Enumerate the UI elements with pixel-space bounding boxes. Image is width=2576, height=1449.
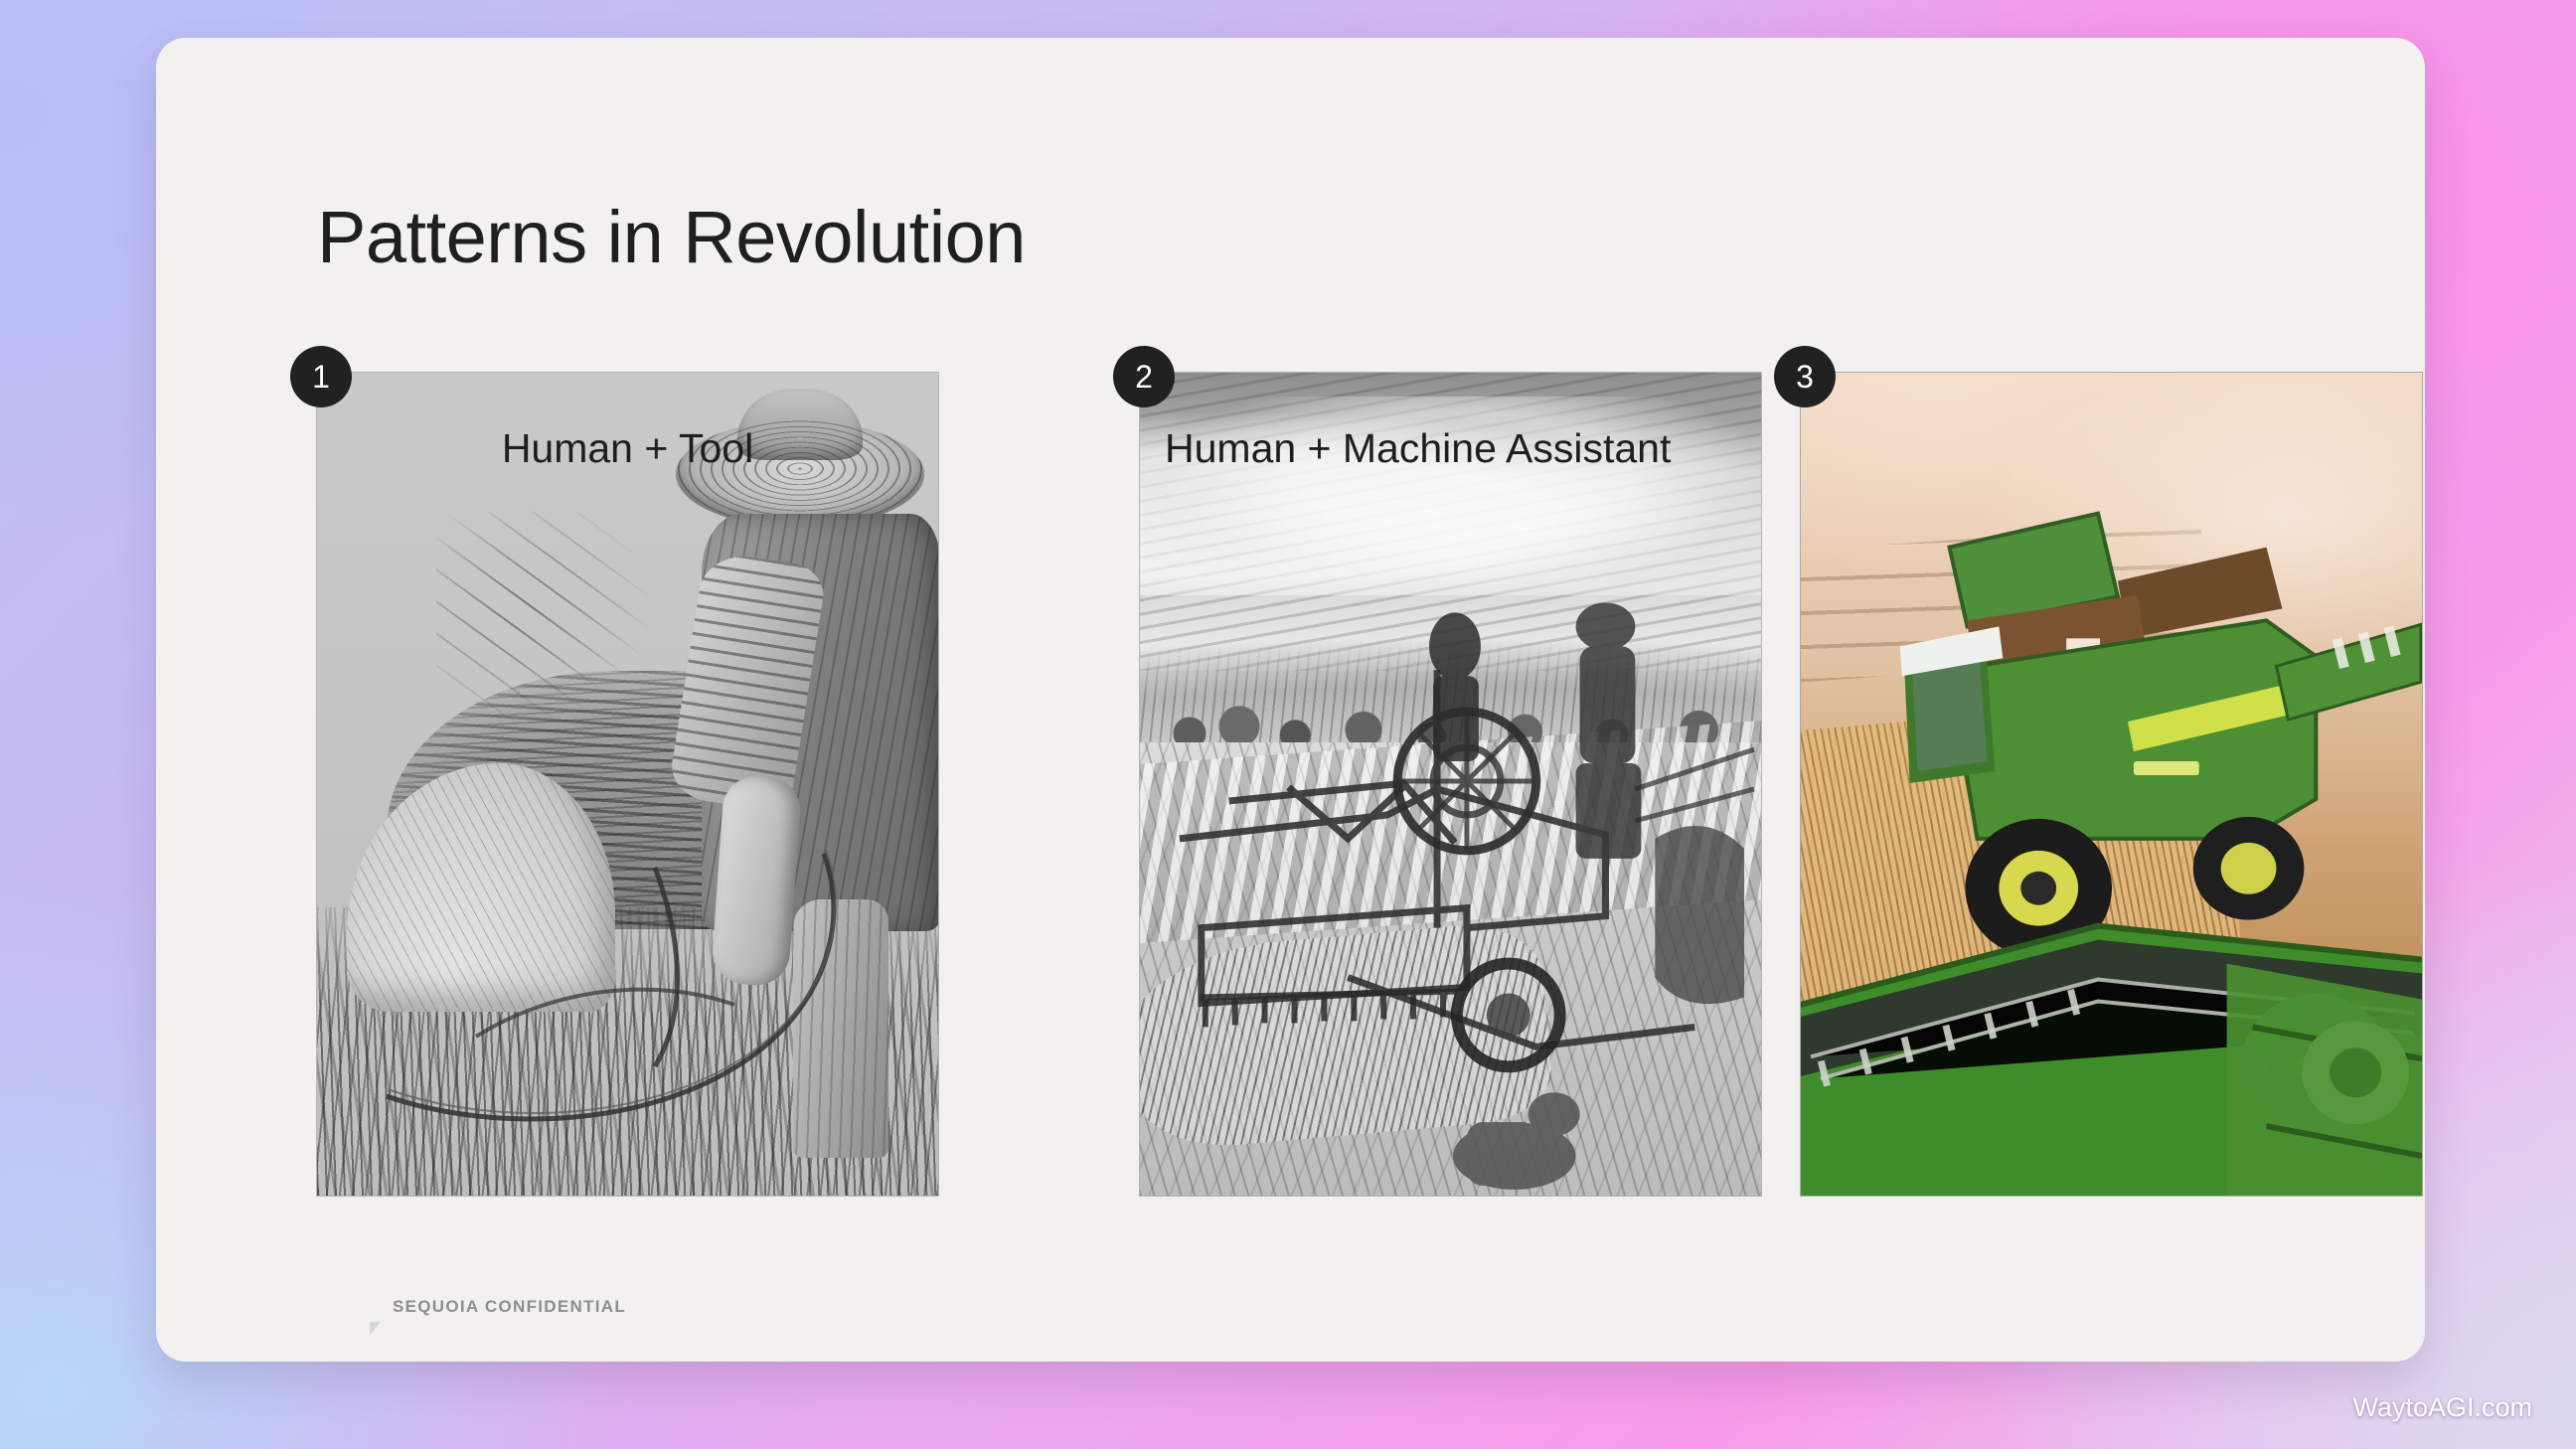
sketch-birds (436, 512, 655, 730)
sketch-scythe (357, 738, 913, 1156)
watermark: WaytoAGI.com (2352, 1392, 2532, 1423)
pencil-sketch-horse-drawn-reaper-illustration (1140, 373, 1761, 1196)
card-human-tool[interactable]: Human + Tool 1 (316, 372, 939, 1197)
card-1-image (316, 372, 939, 1197)
sketch-reaper-machine (1140, 373, 1761, 1196)
card-full-automation[interactable]: 3 (1800, 372, 2423, 1197)
card-2-badge: 2 (1113, 346, 1175, 407)
photo-combine-harvester (1801, 373, 2422, 1196)
card-row: Human + Tool 1 (316, 372, 2264, 1197)
slide-surface: Patterns in Revolution (156, 38, 2425, 1362)
card-1-label: Human + Tool (316, 425, 939, 472)
confidentiality-notice: SEQUOIA CONFIDENTIAL (393, 1297, 626, 1317)
footer-corner-mark (370, 1322, 381, 1336)
card-2-label: Human + Machine Assistant (1139, 425, 1788, 472)
page-title: Patterns in Revolution (317, 195, 1026, 279)
card-3-badge: 3 (1774, 346, 1836, 407)
pencil-sketch-farmer-with-scythe-illustration (317, 373, 938, 1196)
card-human-machine-assistant[interactable]: Human + Machine Assistant 2 (1139, 372, 1762, 1197)
card-1-badge: 1 (290, 346, 352, 407)
card-3-image (1800, 372, 2423, 1197)
card-2-image (1139, 372, 1762, 1197)
photo-green-combine-harvester-illustration (1801, 373, 2422, 1196)
